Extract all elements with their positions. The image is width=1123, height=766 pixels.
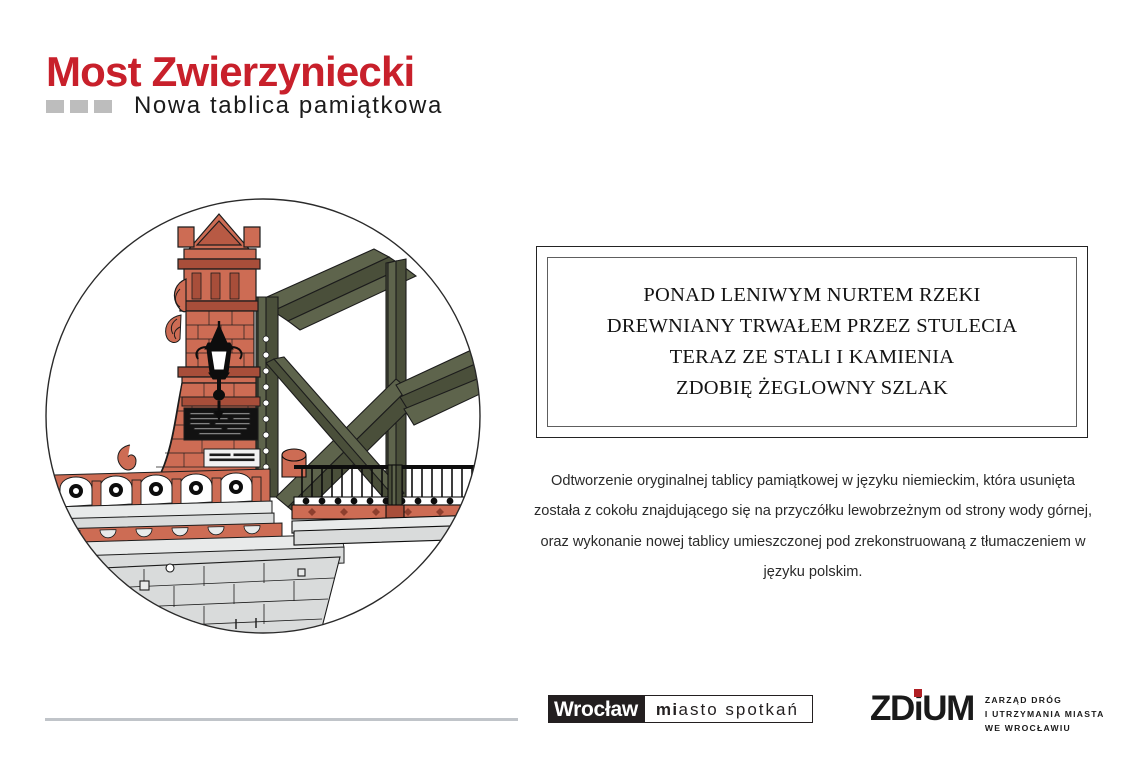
commemorative-plaque: PONAD LENIWYM NURTEM RZEKI DREWNIANY TRW…: [536, 246, 1088, 438]
page-title: Most Zwierzyniecki: [46, 51, 414, 93]
wroclaw-tagline-rest: asto spotkań: [679, 701, 799, 718]
wroclaw-logo: Wrocław miasto spotkań: [548, 695, 813, 723]
wroclaw-tagline-bold: mi: [656, 701, 679, 718]
square-icon: [46, 100, 64, 113]
zdium-wordmark: ZDiUM: [870, 691, 974, 726]
wroclaw-wordmark: Wrocław: [548, 695, 645, 723]
description-paragraph: Odtworzenie oryginalnej tablicy pamiątko…: [533, 466, 1093, 587]
wroclaw-tagline: miasto spotkań: [645, 695, 813, 723]
page-subtitle: Nowa tablica pamiątkowa: [134, 93, 443, 119]
zdium-letter-i: i: [914, 691, 922, 726]
square-icon: [94, 100, 112, 113]
zdium-subtitle: ZARZĄD DRÓG I UTRZYMANIA MIASTA WE WROCŁ…: [985, 694, 1105, 736]
plaque-inner-border: PONAD LENIWYM NURTEM RZEKI DREWNIANY TRW…: [547, 257, 1077, 427]
zdium-logo: ZDiUM ZARZĄD DRÓG I UTRZYMANIA MIASTA WE…: [870, 690, 1105, 736]
subtitle-row: Nowa tablica pamiątkowa: [46, 93, 443, 119]
zdium-word-part2: UM: [922, 689, 974, 728]
plaque-text: PONAD LENIWYM NURTEM RZEKI DREWNIANY TRW…: [597, 280, 1028, 405]
square-icon: [70, 100, 88, 113]
bullet-squares-decoration: [46, 100, 112, 113]
zdium-word-part1: ZD: [870, 689, 914, 728]
zdium-red-dot-icon: [914, 689, 922, 697]
footer-divider: [45, 718, 518, 721]
zwierzyniecki-bridge-pylon-illustration: [44, 197, 482, 635]
